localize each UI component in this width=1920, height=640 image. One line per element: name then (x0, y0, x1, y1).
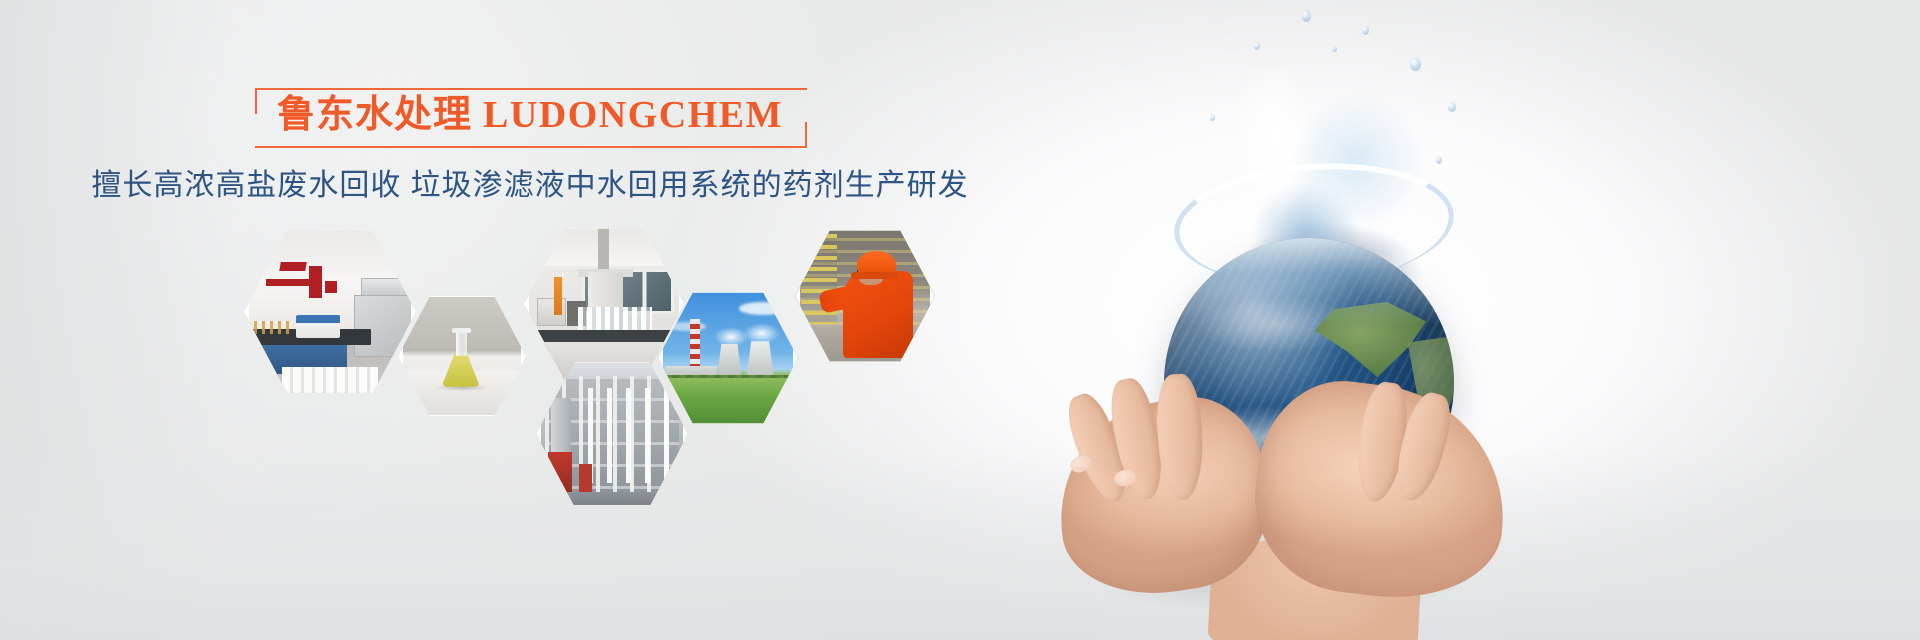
hands-holding-water-globe (1030, 0, 1590, 640)
background-floor-shade (0, 450, 1920, 640)
hero-banner: 鲁东水处理 LUDONGCHEM 擅长高浓高盐废水回收 垃圾渗滤液中水回用系统的… (0, 0, 1920, 640)
photo-chemical-flask (398, 292, 526, 420)
brand-title-en (472, 94, 483, 136)
wall-slogan-graphic (266, 262, 342, 303)
hex-tile-plant-worker (795, 226, 935, 366)
photo-industrial-piping-plant (536, 358, 688, 510)
photo-laboratory-room (244, 226, 416, 398)
brand-title-en-text: LUDONGCHEM (483, 94, 783, 136)
banner-text-block: 鲁东水处理 LUDONGCHEM 擅长高浓高盐废水回收 垃圾渗滤液中水回用系统的… (0, 88, 1060, 205)
hex-tile-chemical-flask (398, 292, 526, 420)
hex-tile-industrial-piping-plant (536, 358, 688, 510)
brand-title-bracket: 鲁东水处理 LUDONGCHEM (255, 88, 805, 146)
hex-tile-laboratory-room (244, 226, 416, 398)
banner-subtitle: 擅长高浓高盐废水回收 垃圾渗滤液中水回用系统的药剂生产研发 (0, 166, 1060, 205)
page-title: 鲁东水处理 LUDONGCHEM (277, 92, 783, 140)
photo-plant-worker (795, 226, 935, 366)
brand-title-cn: 鲁东水处理 (277, 94, 472, 136)
